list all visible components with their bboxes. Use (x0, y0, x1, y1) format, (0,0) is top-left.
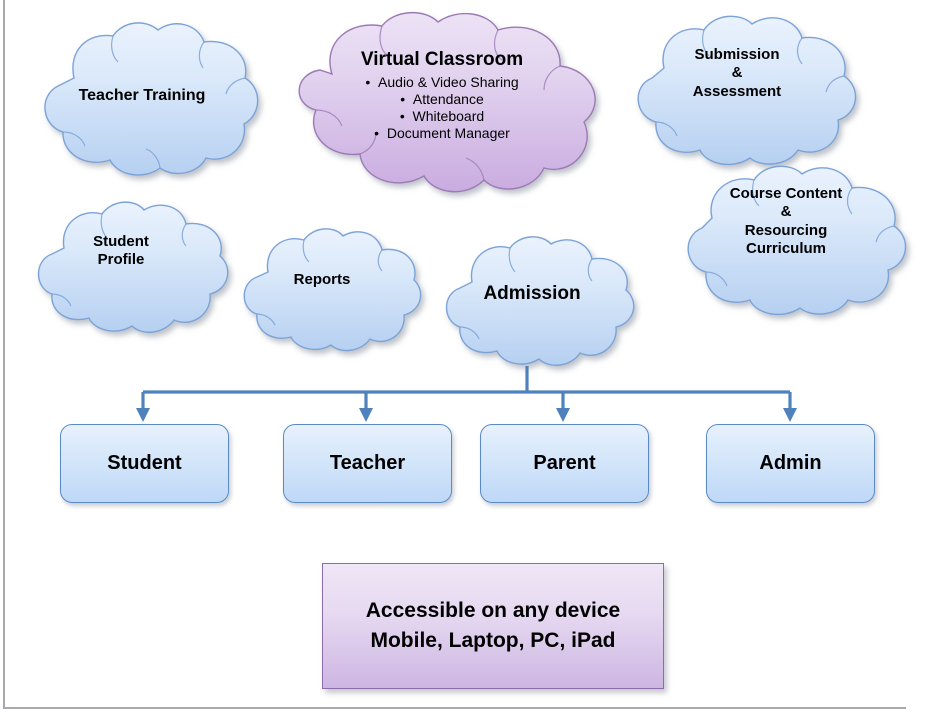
role-box-teacher-label: Teacher (330, 452, 405, 475)
frame-left-rule (3, 0, 5, 709)
role-box-admin[interactable]: Admin (706, 424, 875, 503)
cloud-teacher-training[interactable]: Teacher Training (18, 16, 266, 182)
role-box-parent-label: Parent (533, 452, 595, 475)
cloud-course-content[interactable]: Course Content & Resourcing Curriculum (652, 162, 920, 322)
accessibility-banner-line2: Mobile, Laptop, PC, iPad (370, 626, 615, 656)
cloud-submission-assessment[interactable]: Submission & Assessment (606, 10, 868, 172)
cloud-admission[interactable]: Admission (424, 232, 640, 374)
frame-bottom-rule (3, 707, 906, 709)
diagram-canvas: Teacher Training Virtual Classroom Audio… (0, 0, 931, 721)
cloud-student-profile[interactable]: Student Profile (16, 196, 226, 342)
arrowhead-teacher (359, 408, 373, 422)
accessibility-banner-line1: Accessible on any device (366, 596, 620, 626)
arrowhead-admin (783, 408, 797, 422)
role-box-parent[interactable]: Parent (480, 424, 649, 503)
arrowhead-student (136, 408, 150, 422)
role-box-student[interactable]: Student (60, 424, 229, 503)
accessibility-banner[interactable]: Accessible on any device Mobile, Laptop,… (322, 563, 664, 689)
role-box-student-label: Student (107, 452, 181, 475)
cloud-virtual-classroom[interactable]: Virtual Classroom Audio & Video Sharing … (262, 8, 622, 198)
role-box-admin-label: Admin (759, 452, 821, 475)
arrowhead-parent (556, 408, 570, 422)
role-box-teacher[interactable]: Teacher (283, 424, 452, 503)
cloud-reports[interactable]: Reports (224, 224, 420, 358)
